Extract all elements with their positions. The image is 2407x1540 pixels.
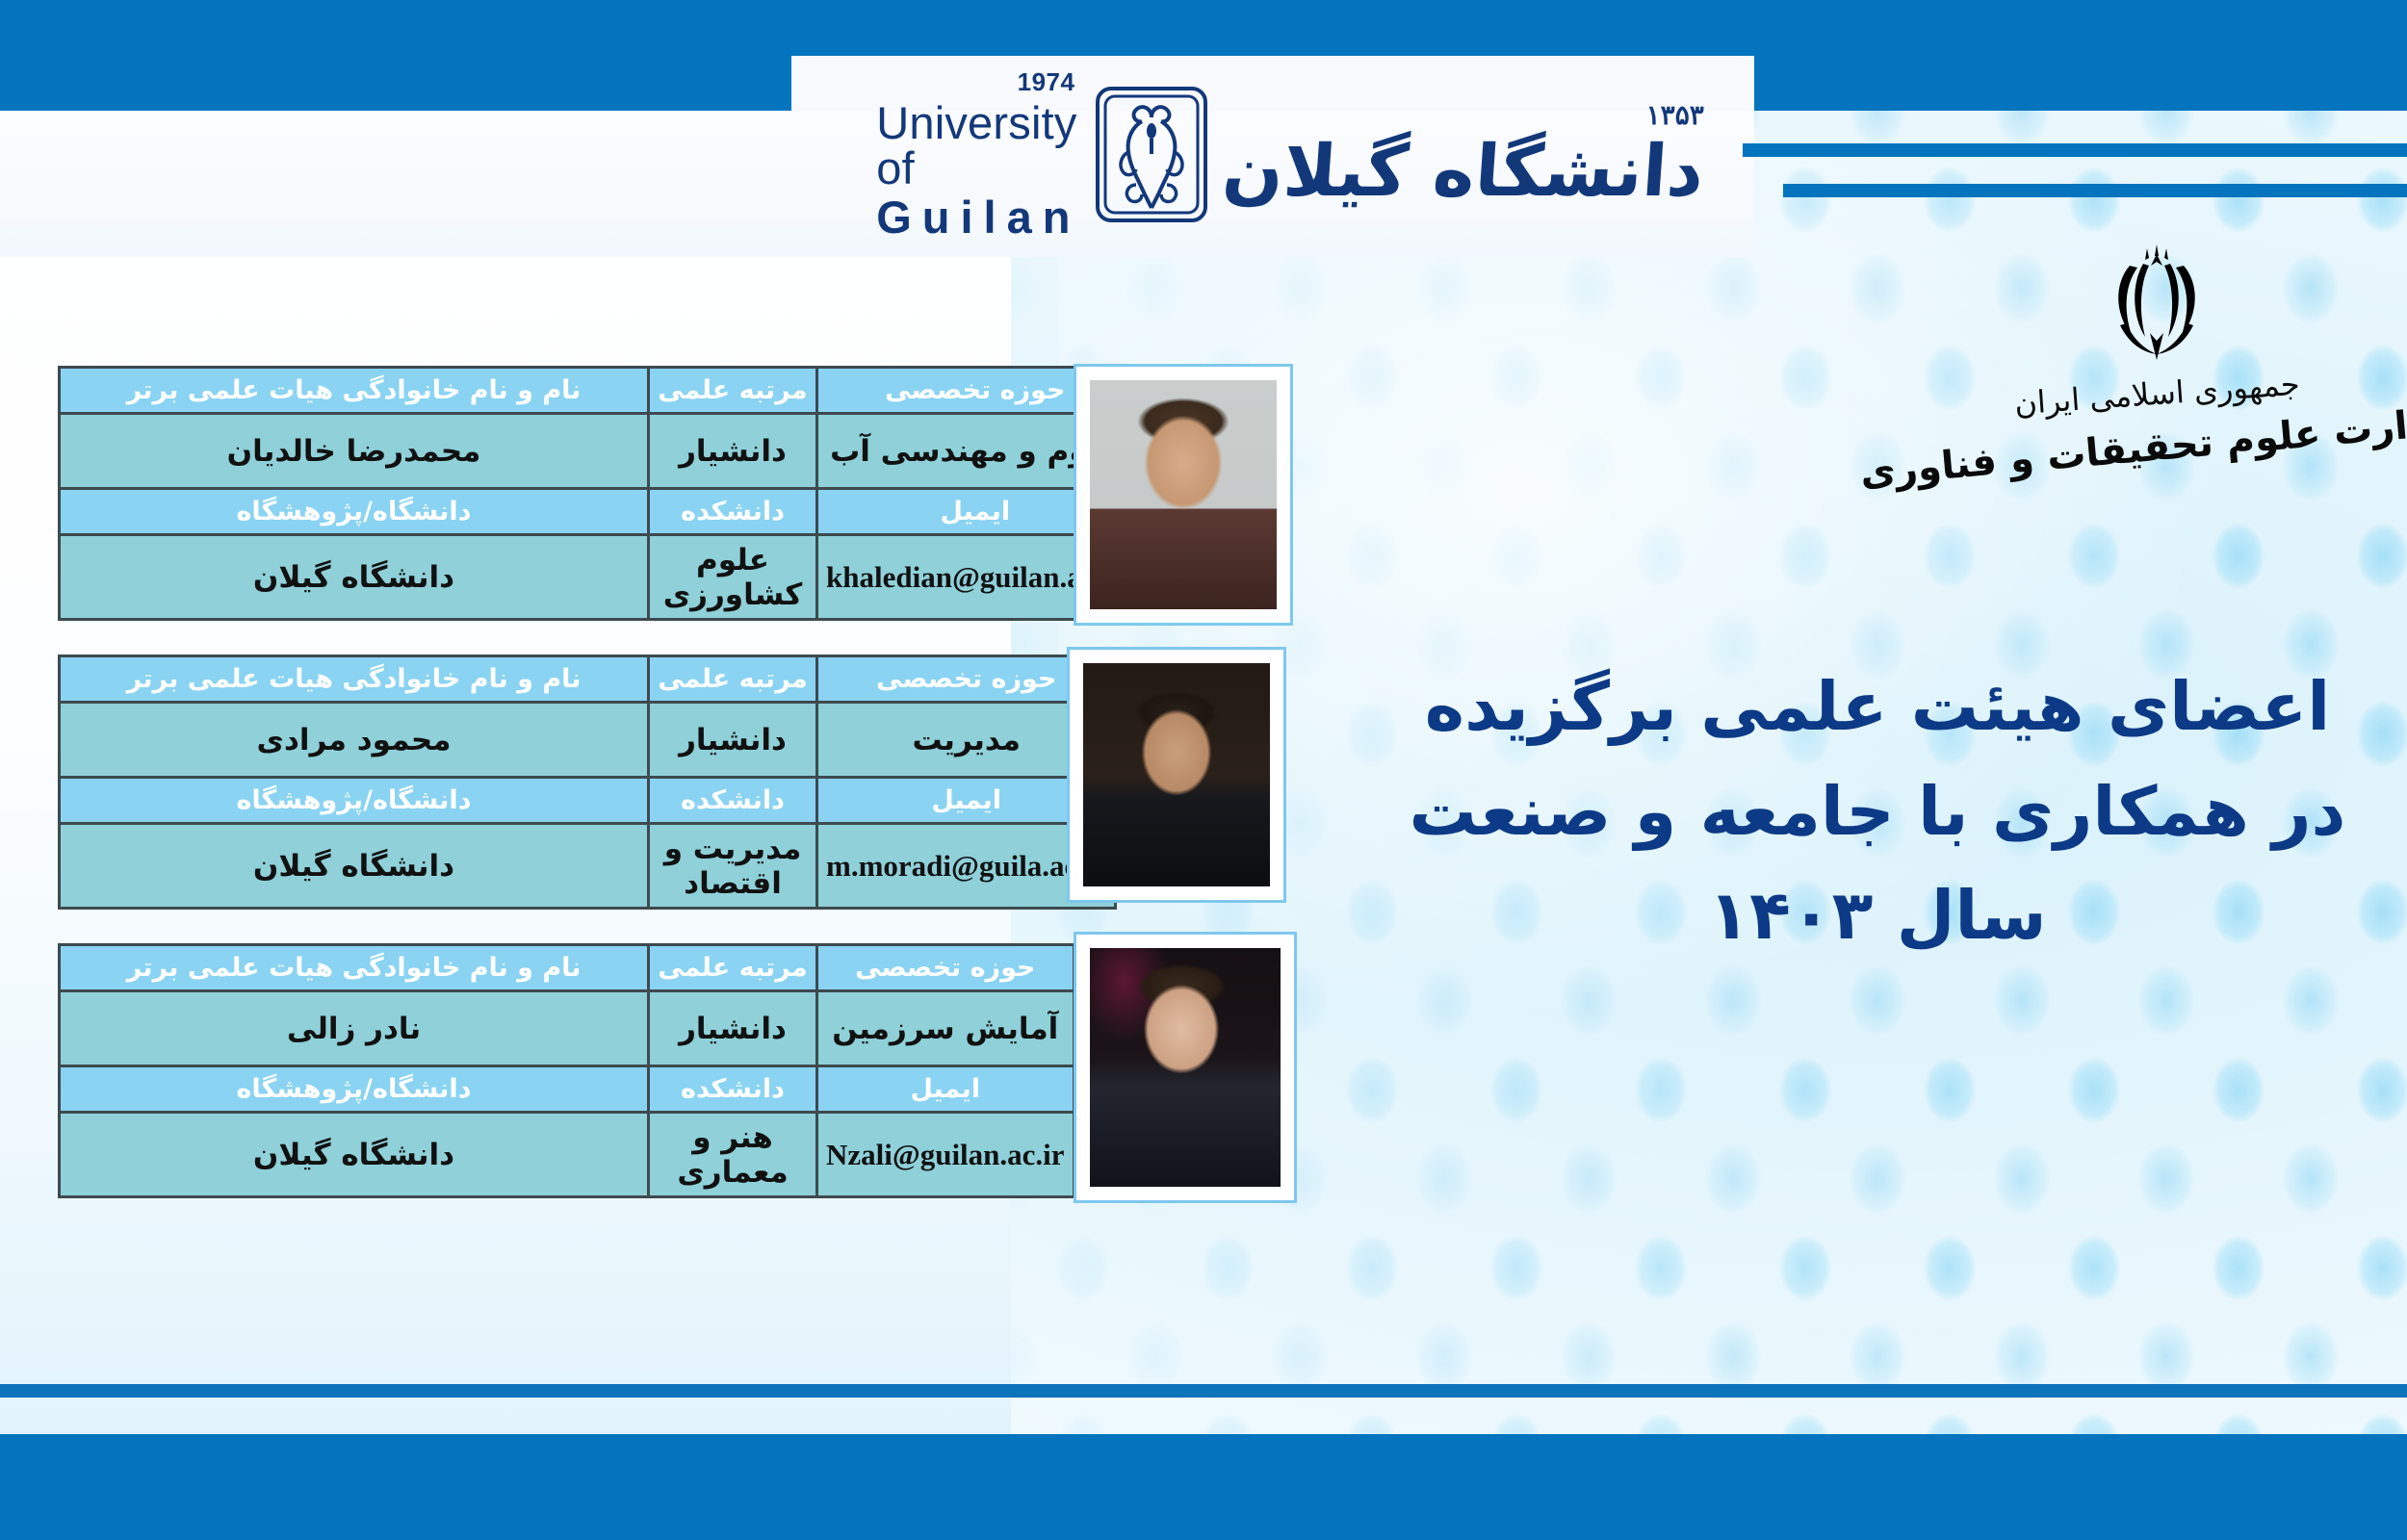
value-institution: دانشگاه گیلان [60,1113,649,1197]
table-row: مدیریت دانشیار محمود مرادی [60,703,1116,778]
page-title-line-2: در همکاری با جامعه و صنعت [1377,759,2378,864]
top-blue-band-right [1754,56,2407,111]
member-photo-frame-2 [1067,647,1286,903]
member-table-2: حوزه تخصصی مرتبه علمی نام و نام خانوادگی… [58,654,1117,910]
member-table-3: حوزه تخصصی مرتبه علمی نام و نام خانوادگی… [58,943,1075,1198]
value-email[interactable]: Nzali@guilan.ac.ir [817,1113,1074,1197]
iran-emblem-icon [2085,241,2228,368]
value-name: محمدرضا خالدیان [60,414,649,489]
bottom-blue-band [0,1434,2407,1540]
value-rank: دانشیار [649,703,817,778]
logo-founding-year-en: 1974 [1018,69,1075,94]
header-institution: دانشگاه/پژوهشگاه [60,778,649,824]
table-row: آمایش سرزمین دانشیار نادر زالی [60,991,1074,1066]
member-photo-frame-3 [1074,932,1297,1203]
table-row: ایمیل دانشکده دانشگاه/پژوهشگاه [60,1066,1074,1113]
member-card-1: حوزه تخصصی مرتبه علمی نام و نام خانوادگی… [58,366,1135,621]
logo-guilan-label: Guilan [876,194,1080,240]
header-rank: مرتبه علمی [649,945,817,991]
ministry-line-2: وزارت علوم تحقیقات و فناوری [1858,399,2407,496]
member-card-2: حوزه تخصصی مرتبه علمی نام و نام خانوادگی… [58,654,1117,910]
header-institution: دانشگاه/پژوهشگاه [60,1066,649,1113]
header-name: نام و نام خانوادگی هیات علمی برتر [60,945,649,991]
logo-university-of-label: University of [876,100,1080,191]
table-row: khaledian@guilan.ac.ir علوم کشاورزی دانش… [60,535,1134,620]
member-photo-2 [1083,663,1270,886]
member-photo-1 [1090,380,1277,609]
value-name: نادر زالی [60,991,649,1066]
member-card-3: حوزه تخصصی مرتبه علمی نام و نام خانوادگی… [58,943,1075,1198]
university-logo: 1974 University of Guilan ۱۳۵۳ دانشگاه گ… [886,77,1695,231]
header-specialty: حوزه تخصصی [817,945,1074,991]
decorative-bar-bottom [1783,184,2407,197]
value-rank: دانشیار [649,414,817,489]
logo-persian-text: ۱۳۵۳ دانشگاه گیلان [1223,99,1703,210]
value-faculty: علوم کشاورزی [649,535,817,620]
logo-english-text: 1974 University of Guilan [876,69,1080,240]
header-faculty: دانشکده [649,778,817,824]
member-table-1: حوزه تخصصی مرتبه علمی نام و نام خانوادگی… [58,366,1135,621]
table-row: Nzali@guilan.ac.ir هنر و معماری دانشگاه … [60,1113,1074,1197]
header-rank: مرتبه علمی [649,368,817,414]
bottom-thin-blue-line [0,1384,2407,1398]
table-row: m.moradi@guila.ac.ir مدیریت و اقتصاد دان… [60,824,1116,909]
top-blue-band-left [0,56,791,111]
table-row: حوزه تخصصی مرتبه علمی نام و نام خانوادگی… [60,368,1134,414]
header-faculty: دانشکده [649,1066,817,1113]
member-photo-3 [1090,948,1281,1187]
decorative-bar-top [1743,143,2407,157]
table-row: ایمیل دانشکده دانشگاه/پژوهشگاه [60,489,1134,535]
value-faculty: هنر و معماری [649,1113,817,1197]
header-institution: دانشگاه/پژوهشگاه [60,489,649,535]
top-blue-band [0,0,2407,56]
member-photo-frame-1 [1074,364,1293,626]
header-rank: مرتبه علمی [649,656,817,703]
table-row: حوزه تخصصی مرتبه علمی نام و نام خانوادگی… [60,656,1116,703]
header-email: ایمیل [817,1066,1074,1113]
poster-canvas: 1974 University of Guilan ۱۳۵۳ دانشگاه گ… [0,0,2407,1540]
value-name: محمود مرادی [60,703,649,778]
value-faculty: مدیریت و اقتصاد [649,824,817,909]
ministry-emblem-block: جمهوری اسلامی ایران وزارت علوم تحقیقات و… [1921,241,2393,529]
logo-founding-year-fa: ۱۳۵۳ [1646,99,1704,131]
guilan-emblem-icon [1094,85,1209,224]
logo-university-name-fa: دانشگاه گیلان [1221,135,1707,210]
page-title-line-1: اعضای هیئت علمی برگزیده [1377,654,2378,759]
value-institution: دانشگاه گیلان [60,535,649,620]
value-rank: دانشیار [649,991,817,1066]
header-name: نام و نام خانوادگی هیات علمی برتر [60,656,649,703]
value-specialty: آمایش سرزمین [817,991,1074,1066]
header-faculty: دانشکده [649,489,817,535]
table-row: ایمیل دانشکده دانشگاه/پژوهشگاه [60,778,1116,824]
page-title-line-3: سال ۱۴۰۳ [1377,863,2378,968]
table-row: حوزه تخصصی مرتبه علمی نام و نام خانوادگی… [60,945,1074,991]
page-title: اعضای هیئت علمی برگزیده در همکاری با جام… [1377,654,2378,968]
value-institution: دانشگاه گیلان [60,824,649,909]
ministry-line-1: جمهوری اسلامی ایران [2013,366,2301,423]
table-row: علوم و مهندسی آب دانشیار محمدرضا خالدیان [60,414,1134,489]
header-name: نام و نام خانوادگی هیات علمی برتر [60,368,649,414]
